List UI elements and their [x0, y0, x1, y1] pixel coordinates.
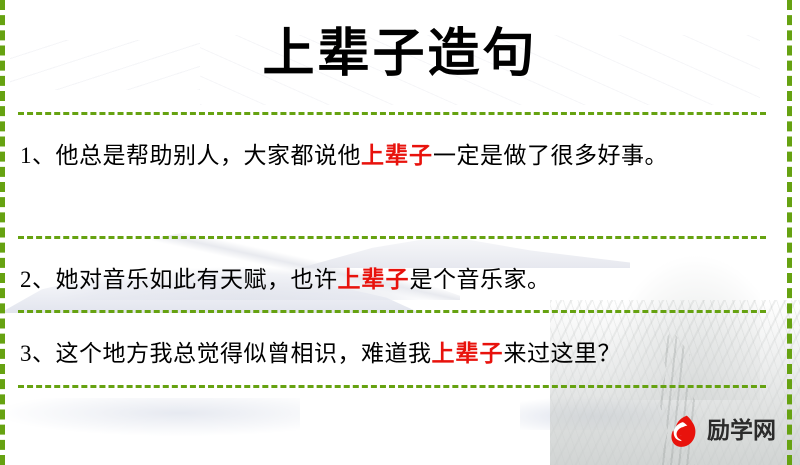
site-logo-text: 励学网 — [707, 420, 776, 443]
divider-3 — [18, 310, 766, 313]
ink-wash-watermark-haze-left — [0, 398, 300, 436]
sentence-number-1: 1、 — [20, 143, 56, 168]
sentence-text-after-1: 一定是做了很多好事。 — [433, 143, 668, 168]
divider-2 — [18, 236, 766, 239]
sentence-text-before-3: 这个地方我总觉得似曾相识，难道我 — [56, 341, 432, 366]
divider-1 — [18, 112, 766, 115]
sentence-text-before-1: 他总是帮助别人，大家都说他 — [56, 143, 362, 168]
highlighted-keyword-1: 上辈子 — [361, 143, 433, 168]
worksheet-page: 上辈子造句 1、他总是帮助别人，大家都说他上辈子一定是做了很多好事。 2、她对音… — [0, 0, 800, 465]
highlighted-keyword-3: 上辈子 — [432, 341, 504, 366]
flame-swirl-icon — [663, 412, 701, 450]
site-logo: 励学网 — [663, 412, 776, 450]
sentence-number-3: 3、 — [20, 341, 56, 366]
page-title-area: 上辈子造句 — [0, 14, 800, 94]
sentence-item-1: 1、他总是帮助别人，大家都说他上辈子一定是做了很多好事。 — [20, 134, 765, 178]
sentence-text-before-2: 她对音乐如此有天赋，也许 — [56, 267, 338, 292]
page-title: 上辈子造句 — [262, 28, 537, 80]
sentence-item-2: 2、她对音乐如此有天赋，也许上辈子是个音乐家。 — [20, 258, 765, 302]
sentence-text-after-2: 是个音乐家。 — [410, 267, 551, 292]
divider-4 — [18, 385, 766, 388]
sentence-item-3: 3、这个地方我总觉得似曾相识，难道我上辈子来过这里？ — [20, 332, 765, 376]
highlighted-keyword-2: 上辈子 — [338, 267, 410, 292]
sentence-text-after-3: 来过这里？ — [504, 341, 622, 366]
sentence-number-2: 2、 — [20, 267, 56, 292]
